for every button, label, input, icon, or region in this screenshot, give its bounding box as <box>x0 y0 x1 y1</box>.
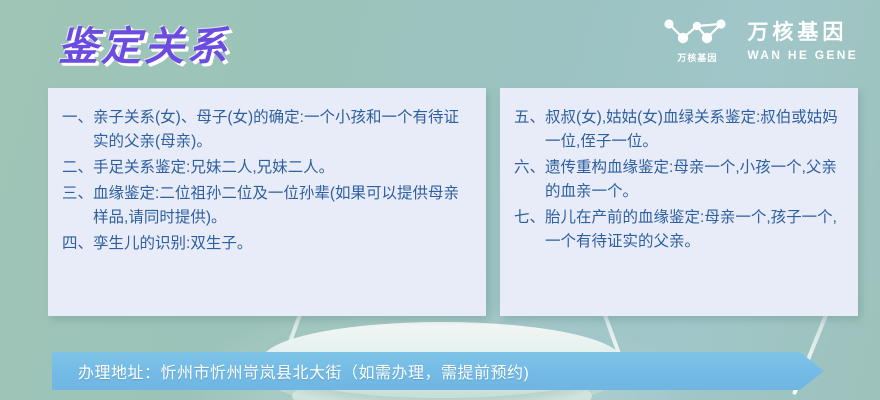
poster-root: 鉴定关系 <box>0 0 880 400</box>
brand-mark: 万核基因 <box>661 18 733 64</box>
list-item: 一、 亲子关系(女)、母子(女)的确定:一个小孩和一个有待证实的父亲(母亲)。 <box>62 106 472 154</box>
list-item-number: 七、 <box>514 206 545 230</box>
brand-mark-caption: 万核基因 <box>677 51 717 64</box>
list-item: 五、 叔叔(女),姑姑(女)血绿关系鉴定:叔伯或姑妈一位,侄子一位。 <box>514 106 844 154</box>
molecule-network-icon <box>661 18 733 48</box>
list-item-number: 六、 <box>514 156 545 180</box>
list-item-number: 四、 <box>62 232 93 256</box>
brand-name-en: WAN HE GENE <box>747 49 858 61</box>
list-item-text: 孪生儿的识别:双生子。 <box>93 232 472 256</box>
list-item-text: 手足关系鉴定:兄妹二人,兄妹二人。 <box>93 156 472 180</box>
address-banner: 办理地址：忻州市忻州岢岚县北大街（如需办理，需提前预约) <box>52 352 824 390</box>
service-list-panel-right: 五、 叔叔(女),姑姑(女)血绿关系鉴定:叔伯或姑妈一位,侄子一位。 六、 遗传… <box>500 88 858 316</box>
list-item-text: 血缘鉴定:二位祖孙二位及一位孙辈(如果可以提供母亲样品,请同时提供)。 <box>93 182 472 230</box>
list-item-number: 一、 <box>62 106 93 130</box>
list-item-number: 五、 <box>514 106 545 130</box>
list-item: 三、 血缘鉴定:二位祖孙二位及一位孙辈(如果可以提供母亲样品,请同时提供)。 <box>62 182 472 230</box>
list-item-number: 三、 <box>62 182 93 206</box>
brand-wordmark: 万核基因 WAN HE GENE <box>747 22 858 61</box>
brand-name-cn: 万核基因 <box>747 22 847 43</box>
brand-logo: 万核基因 万核基因 WAN HE GENE <box>661 18 858 64</box>
list-item-text: 亲子关系(女)、母子(女)的确定:一个小孩和一个有待证实的父亲(母亲)。 <box>93 106 472 154</box>
address-banner-text: 办理地址：忻州市忻州岢岚县北大街（如需办理，需提前预约) <box>78 359 529 383</box>
list-item-text: 遗传重构血缘鉴定:母亲一个,小孩一个,父亲的血亲一个。 <box>545 156 844 204</box>
list-item-text: 胎儿在产前的血缘鉴定:母亲一个,孩子一个,一个有待证实的父亲。 <box>545 206 844 254</box>
list-item-text: 叔叔(女),姑姑(女)血绿关系鉴定:叔伯或姑妈一位,侄子一位。 <box>545 106 844 154</box>
list-item: 六、 遗传重构血缘鉴定:母亲一个,小孩一个,父亲的血亲一个。 <box>514 156 844 204</box>
list-item: 七、 胎儿在产前的血缘鉴定:母亲一个,孩子一个,一个有待证实的父亲。 <box>514 206 844 254</box>
list-item-number: 二、 <box>62 156 93 180</box>
service-list-panel-left: 一、 亲子关系(女)、母子(女)的确定:一个小孩和一个有待证实的父亲(母亲)。 … <box>48 88 486 316</box>
list-item: 四、 孪生儿的识别:双生子。 <box>62 232 472 256</box>
list-item: 二、 手足关系鉴定:兄妹二人,兄妹二人。 <box>62 156 472 180</box>
page-title: 鉴定关系 <box>58 14 230 72</box>
